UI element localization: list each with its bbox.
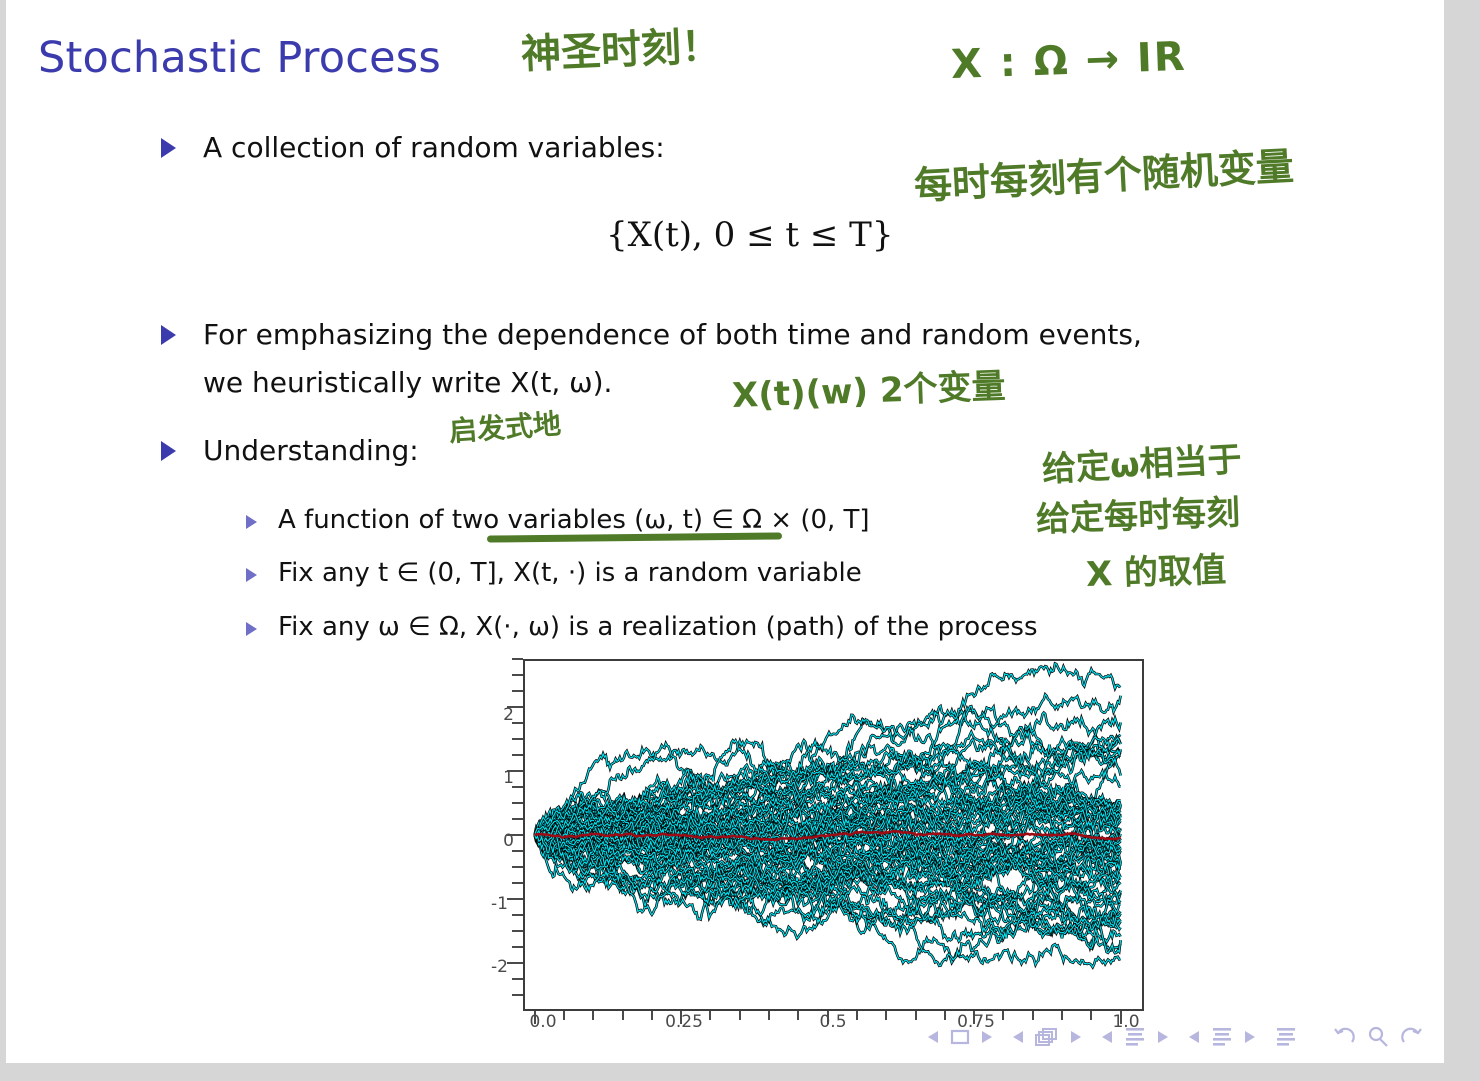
tick-mark (797, 1011, 799, 1020)
bullet-label-2b: we heuristically write X(t, ω). (203, 366, 612, 399)
next-frame-icon[interactable] (980, 1029, 994, 1045)
nav-group-frame[interactable] (926, 1027, 994, 1047)
tick-mark (512, 818, 523, 820)
tick-mark (512, 674, 523, 676)
tick-mark (507, 898, 523, 900)
bullet-triangle-icon (161, 441, 176, 461)
tick-mark (512, 978, 523, 980)
subbullet-label-1: A function of two variables (ω, t) ∈ Ω ×… (278, 505, 870, 535)
tick-mark (512, 690, 523, 692)
tick-mark (512, 866, 523, 868)
back-icon[interactable] (1332, 1026, 1356, 1048)
slide-canvas: Stochastic Process A collection of rando… (6, 0, 1444, 1063)
annotation-heuristic: 启发式地 (448, 402, 563, 450)
subsection-block-indicator-icon[interactable] (1034, 1026, 1060, 1048)
annotation-two-vars: X(t)(w) 2个变量 (731, 358, 1006, 417)
tick-mark (512, 658, 523, 660)
prev-section-icon[interactable] (1187, 1029, 1201, 1045)
tick-mark (512, 882, 523, 884)
tick-mark (512, 994, 523, 996)
stochastic-paths-chart (523, 659, 1144, 1011)
y-tick-label: 2 (474, 705, 514, 725)
subbullet-label-3: Fix any ω ∈ Ω, X(·, ω) is a realization … (278, 612, 1037, 642)
bullet-triangle-icon (161, 138, 176, 158)
forward-icon[interactable] (1400, 1026, 1424, 1048)
display-equation: {X(t), 0 ≤ t ≤ T} (606, 215, 893, 255)
subbullet-label-2: Fix any t ∈ (0, T], X(t, ·) is a random … (278, 558, 862, 588)
prev-subsection-icon[interactable] (1100, 1029, 1114, 1045)
subbullet-triangle-icon (246, 568, 257, 582)
tick-mark (512, 738, 523, 740)
tick-mark (512, 946, 523, 948)
tick-mark (592, 1011, 594, 1020)
bullet-triangle-icon (161, 325, 176, 345)
prev-frame-icon[interactable] (926, 1029, 940, 1045)
bullet-label-1: A collection of random variables: (203, 131, 665, 164)
subsection-indicator-icon[interactable] (1123, 1026, 1147, 1048)
nav-group-history[interactable] (1332, 1026, 1424, 1048)
nav-group-subsection-block[interactable] (1011, 1026, 1083, 1048)
tick-mark (651, 1011, 653, 1020)
toc-icon[interactable] (1274, 1026, 1298, 1048)
annotation-every-moment: 每时每刻有个随机变量 (913, 135, 1295, 210)
y-tick-label: 1 (474, 768, 514, 788)
bullet-label-3: Understanding: (203, 434, 419, 467)
y-tick-label: 0 (474, 831, 514, 851)
page-title: Stochastic Process (38, 33, 441, 83)
tick-mark (512, 802, 523, 804)
nav-group-section[interactable] (1187, 1026, 1257, 1048)
tick-mark (915, 1011, 917, 1020)
nav-group-subsection[interactable] (1100, 1026, 1170, 1048)
chart-plot-area (523, 659, 1144, 1011)
x-tick-label: 0.25 (654, 1012, 714, 1032)
next-subsection-icon[interactable] (1156, 1029, 1170, 1045)
frame-indicator-icon[interactable] (949, 1027, 971, 1047)
slide-bottom-margin (0, 1063, 1480, 1081)
annotation-given-omega: 给定ω相当于 (1041, 432, 1243, 491)
tick-mark (622, 1011, 624, 1020)
y-tick-label: -1 (468, 894, 508, 914)
x-tick-label: 0.5 (803, 1012, 863, 1032)
tick-mark (512, 930, 523, 932)
tick-mark (885, 1011, 887, 1020)
nav-group-toc[interactable] (1274, 1026, 1298, 1048)
tick-mark (512, 914, 523, 916)
slide-right-margin (1444, 0, 1480, 1063)
tick-mark (512, 754, 523, 756)
tick-mark (768, 1011, 770, 1020)
slide-left-margin (0, 0, 6, 1063)
annotation-given-moment: 给定每时每刻 (1035, 485, 1241, 541)
section-indicator-icon[interactable] (1210, 1026, 1234, 1048)
tick-mark (1032, 1011, 1034, 1020)
tick-mark (507, 962, 523, 964)
y-tick-label: -2 (468, 957, 508, 977)
next-section-icon[interactable] (1243, 1029, 1257, 1045)
beamer-navigation-bar[interactable] (926, 1026, 1424, 1048)
annotation-title-note: 神圣时刻！ (520, 13, 722, 80)
subbullet-triangle-icon (246, 622, 257, 636)
subbullet-triangle-icon (246, 515, 257, 529)
search-icon[interactable] (1367, 1026, 1389, 1048)
tick-mark (1090, 1011, 1092, 1020)
x-tick-label: 0.0 (513, 1012, 573, 1032)
bullet-label-2: For emphasizing the dependence of both t… (203, 318, 1142, 351)
annotation-x-value: X 的取值 (1085, 542, 1227, 596)
next-subsection-block-icon[interactable] (1069, 1029, 1083, 1045)
annotation-mapping: X : Ω → IR (950, 34, 1187, 88)
tick-mark (739, 1011, 741, 1020)
tick-mark (1061, 1011, 1063, 1020)
prev-subsection-block-icon[interactable] (1011, 1029, 1025, 1045)
